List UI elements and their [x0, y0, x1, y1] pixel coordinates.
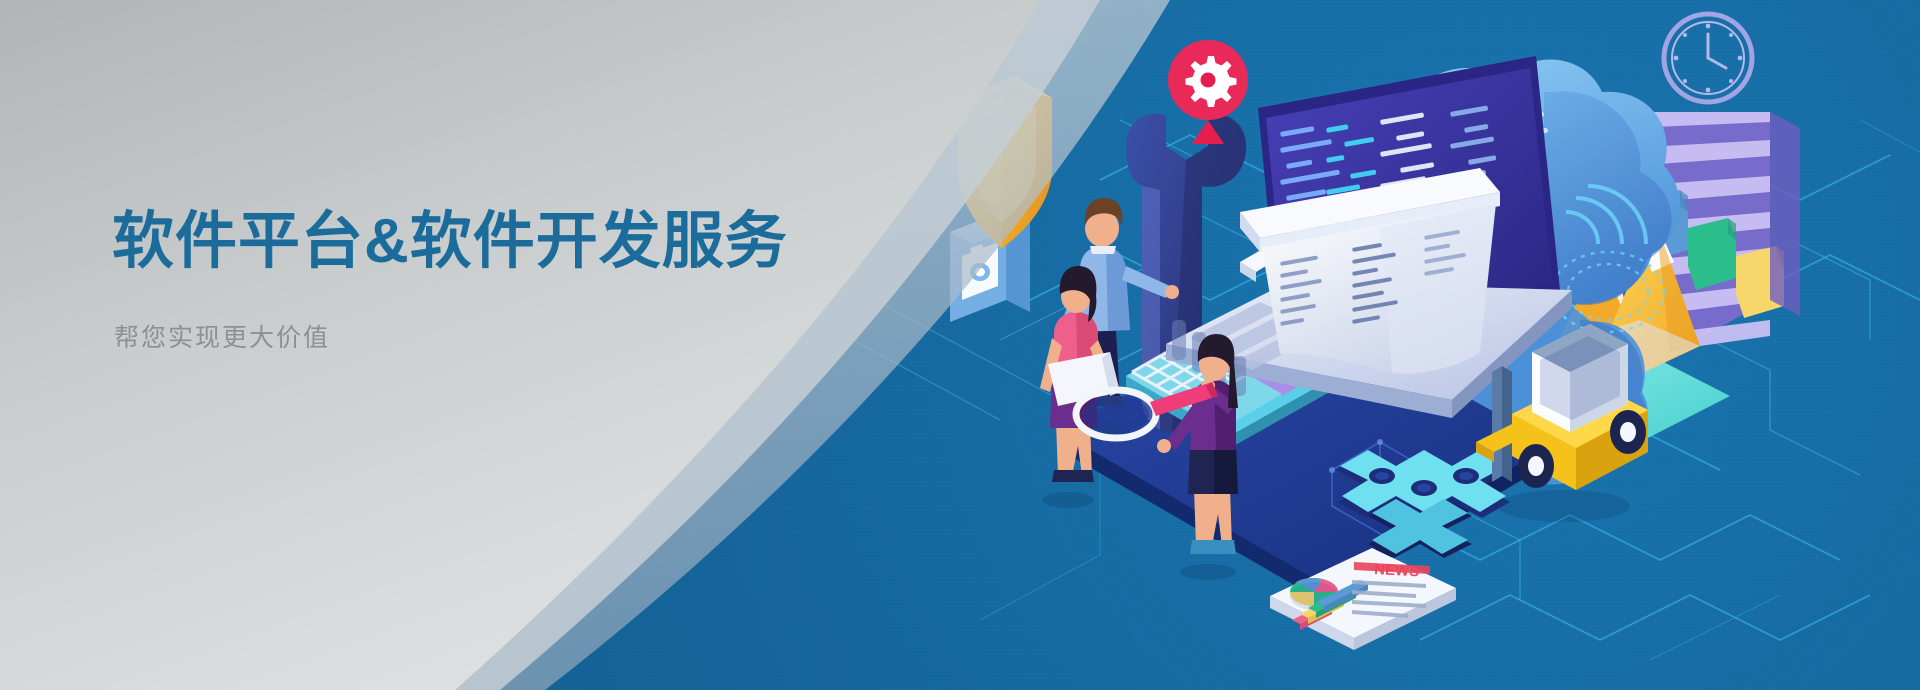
hero-banner: NEWS — [0, 0, 1920, 690]
page-title: 软件平台&软件开发服务 — [112, 205, 932, 278]
page-subtitle: 帮您实现更大价值 — [114, 322, 932, 355]
hero-copy-block: 软件平台&软件开发服务 帮您实现更大价值 — [112, 205, 932, 355]
